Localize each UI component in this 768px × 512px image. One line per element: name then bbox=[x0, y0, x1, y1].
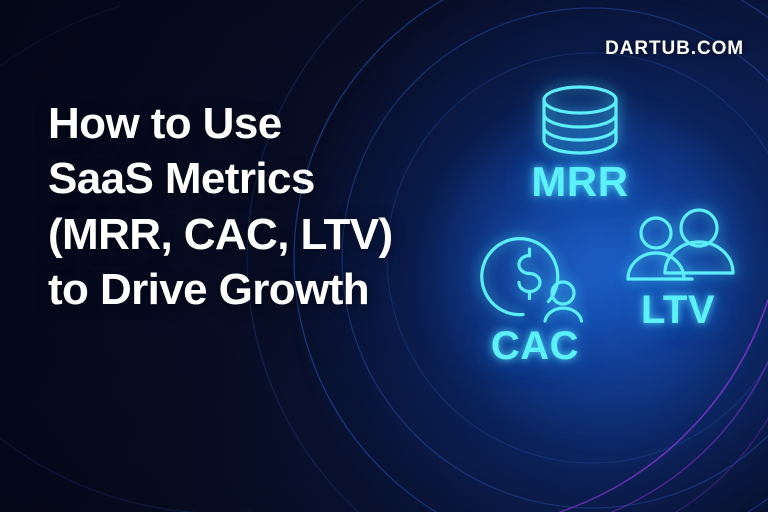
thumbnail-graphic: DARTUB.COM How to Use SaaS Metrics (MRR,… bbox=[0, 0, 768, 512]
metric-cac-label: CAC bbox=[460, 324, 610, 369]
title-line-4: to Drive Growth bbox=[48, 262, 448, 317]
title-line-1: How to Use bbox=[48, 96, 448, 151]
metric-mrr: MRR bbox=[498, 84, 662, 206]
site-watermark: DARTUB.COM bbox=[605, 38, 744, 60]
two-people-icon bbox=[620, 208, 736, 288]
metric-ltv-label: LTV bbox=[612, 288, 744, 333]
metric-mrr-label: MRR bbox=[498, 158, 662, 206]
page-title: How to Use SaaS Metrics (MRR, CAC, LTV) … bbox=[48, 96, 448, 318]
metric-ltv: LTV bbox=[612, 208, 744, 333]
title-line-2: SaaS Metrics bbox=[48, 151, 448, 206]
database-cylinder-icon bbox=[530, 84, 630, 156]
title-line-3: (MRR, CAC, LTV) bbox=[48, 207, 448, 262]
metric-cac: CAC bbox=[460, 228, 610, 369]
dollar-circle-person-icon bbox=[476, 228, 594, 324]
